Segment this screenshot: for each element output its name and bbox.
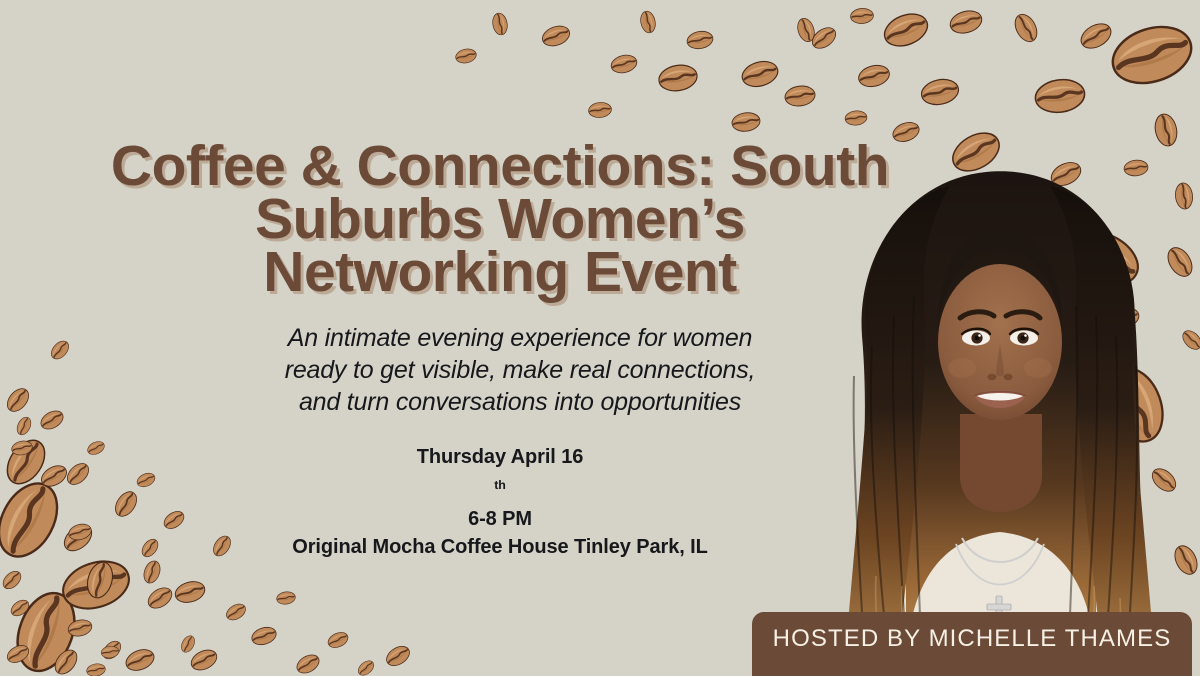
subtitle-line-3: and turn conversations into opportunitie…: [0, 386, 1040, 418]
event-time-text: 6-8 PM: [0, 505, 1000, 533]
subtitle-line-1: An intimate evening experience for women: [0, 322, 1040, 354]
event-flyer: Coffee & Connections: South Suburbs Wome…: [0, 0, 1200, 676]
event-date-text: Thursday April 16: [0, 443, 1000, 471]
subtitle-line-2: ready to get visible, make real connecti…: [0, 354, 1040, 386]
title-line-2: Suburbs Women’s: [0, 193, 1000, 246]
event-subtitle: An intimate evening experience for women…: [0, 322, 1040, 418]
event-date: Thursday April 16th 6-8 PM: [0, 443, 1000, 533]
hosted-by-banner: HOSTED BY MICHELLE THAMES: [752, 612, 1192, 676]
event-title: Coffee & Connections: South Suburbs Wome…: [0, 140, 1000, 299]
hosted-by-text: HOSTED BY MICHELLE THAMES: [773, 625, 1172, 653]
event-details: Thursday April 16th 6-8 PM Original Moch…: [0, 443, 1000, 561]
title-line-3: Networking Event: [0, 246, 1000, 299]
event-venue: Original Mocha Coffee House Tinley Park,…: [0, 533, 1000, 561]
date-ordinal-suffix: th: [494, 478, 506, 492]
title-block: Coffee & Connections: South Suburbs Wome…: [0, 140, 1000, 299]
